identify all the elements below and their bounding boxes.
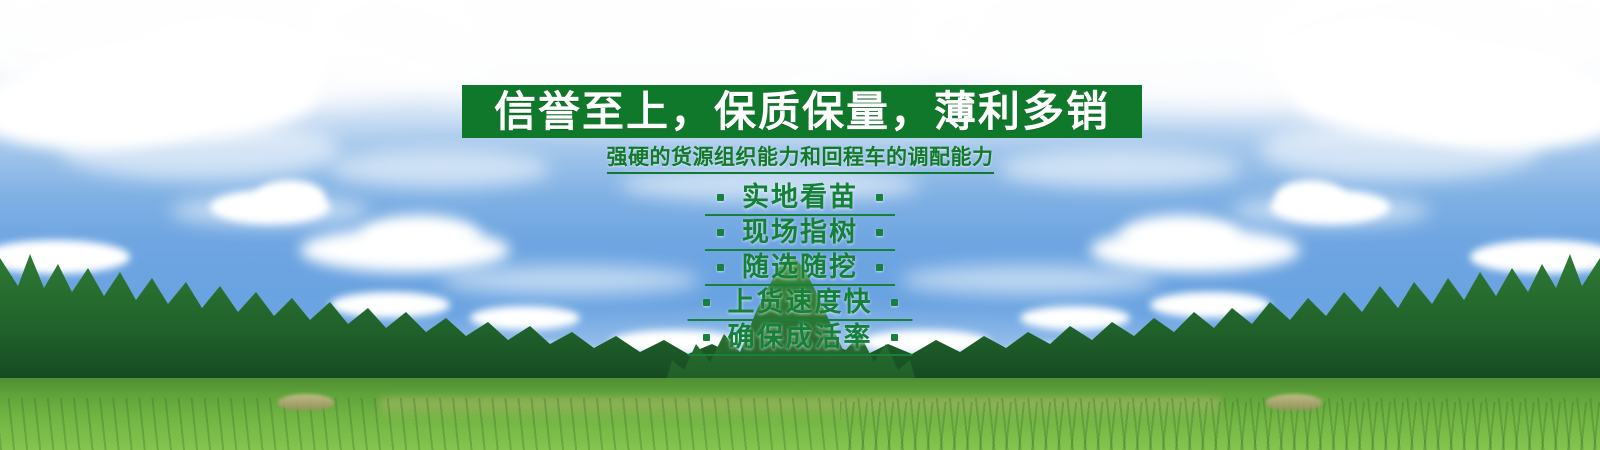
feature-label: 现场指树 <box>742 219 858 246</box>
bullet-dot-icon <box>717 264 724 271</box>
headline-text: 信誉至上，保质保量，薄利多销 <box>494 91 1110 133</box>
bullet-dot-icon <box>891 299 898 306</box>
subtitle-row: 强硬的货源组织能力和回程车的调配能力 <box>0 146 1600 174</box>
subtitle-text: 强硬的货源组织能力和回程车的调配能力 <box>607 146 994 174</box>
promo-banner: 信誉至上，保质保量，薄利多销 强硬的货源组织能力和回程车的调配能力 实地看苗 现… <box>0 0 1600 450</box>
bullet-dot-icon <box>876 229 883 236</box>
feature-item: 实地看苗 <box>0 180 1600 215</box>
feature-label: 随选随挖 <box>742 254 858 281</box>
feature-label: 实地看苗 <box>742 184 858 211</box>
headline-bar: 信誉至上，保质保量，薄利多销 <box>462 85 1142 138</box>
bullet-dot-icon <box>891 334 898 341</box>
bullet-dot-icon <box>717 194 724 201</box>
feature-item: 现场指树 <box>0 215 1600 250</box>
banner-text-block: 信誉至上，保质保量，薄利多销 强硬的货源组织能力和回程车的调配能力 实地看苗 现… <box>0 0 1600 450</box>
feature-item: 上货速度快 <box>0 285 1600 320</box>
feature-item: 随选随挖 <box>0 250 1600 285</box>
bullet-dot-icon <box>876 264 883 271</box>
feature-item: 确保成活率 <box>0 320 1600 355</box>
bullet-dot-icon <box>876 194 883 201</box>
bullet-dot-icon <box>703 299 710 306</box>
feature-label: 确保成活率 <box>728 324 873 351</box>
bullet-dot-icon <box>703 334 710 341</box>
feature-list: 实地看苗 现场指树 随选随挖 上货速度快 <box>0 180 1600 355</box>
feature-rule <box>688 354 913 356</box>
feature-label: 上货速度快 <box>728 289 873 316</box>
bullet-dot-icon <box>717 229 724 236</box>
